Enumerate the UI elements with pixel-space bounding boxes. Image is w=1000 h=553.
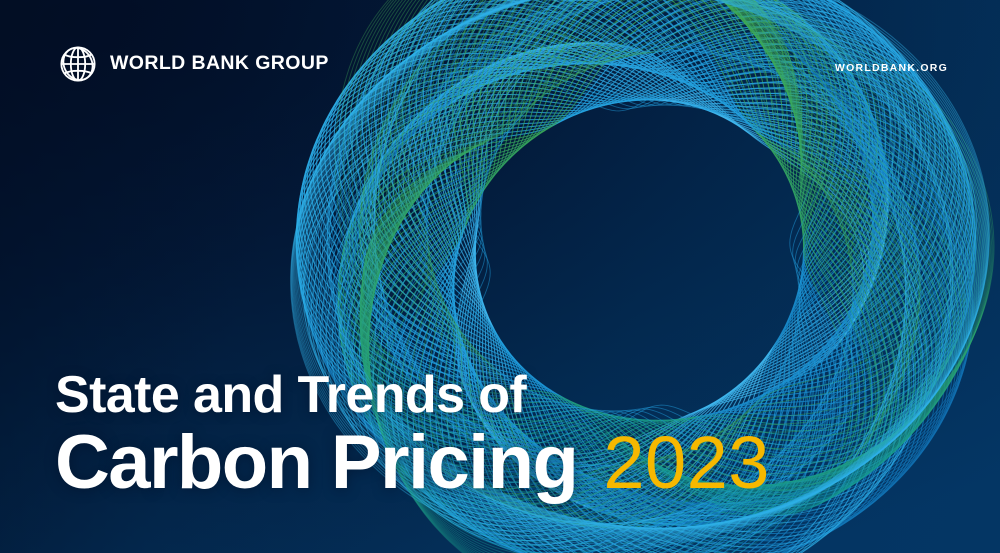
title-main-text: Carbon Pricing: [55, 425, 577, 501]
report-cover: WORLD BANK GROUP WORLDBANK.ORG State and…: [0, 0, 1000, 553]
worldbank-url[interactable]: WORLDBANK.ORG: [835, 62, 948, 74]
title-year: 2023: [603, 426, 770, 500]
world-bank-globe-icon: [57, 43, 99, 85]
cover-title-block: State and Trends of Carbon Pricing 2023: [55, 368, 955, 501]
title-line-two: Carbon Pricing 2023: [55, 425, 955, 501]
title-line-one: State and Trends of: [55, 368, 955, 423]
cover-header: WORLD BANK GROUP WORLDBANK.ORG: [0, 0, 1000, 110]
world-bank-logo[interactable]: WORLD BANK GROUP: [57, 43, 329, 85]
world-bank-wordmark: WORLD BANK GROUP: [110, 54, 329, 74]
